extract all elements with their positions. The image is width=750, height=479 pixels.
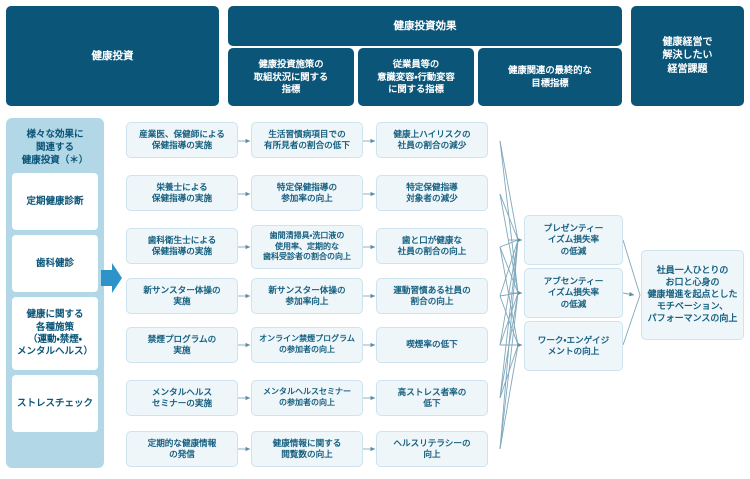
node-col1-3[interactable]: 新サンスター体操の実施 — [126, 278, 238, 314]
sidebar-item-dental-checkup[interactable]: 歯科健診 — [12, 235, 98, 292]
header-health-investment: 健康投資 — [6, 6, 219, 106]
header-indicator-awareness-behavior-change-label: 従業員等の意識変容・行動変容に関する指標 — [377, 58, 455, 96]
health-management-strategy-map: 健康投資 健康投資効果 健康投資施策の取組状況に関する指標 従業員等の意識変容・… — [0, 0, 750, 479]
node-col1-0[interactable]: 産業医、保健師による保健指導の実施 — [126, 122, 238, 158]
sidebar-item-health-measures[interactable]: 健康に関する各種施策（運動・禁煙・メンタルヘルス） — [12, 297, 98, 370]
node-col3-5[interactable]: 高ストレス者率の低下 — [376, 380, 488, 416]
header-indicator-initiative-status-label: 健康投資施策の取組状況に関する指標 — [254, 58, 328, 96]
node-col2-0[interactable]: 生活習慣病項目での有所見者の割合の低下 — [251, 122, 363, 158]
node-col2-6[interactable]: 健康情報に関する閲覧数の向上 — [251, 431, 363, 467]
sidebar-right-arrow-icon — [101, 262, 123, 294]
node-col2-4[interactable]: オンライン禁煙プログラムの参加者の向上 — [251, 327, 363, 363]
header-management-issue: 健康経営で解決したい経営課題 — [631, 6, 744, 106]
header-indicator-final-health-goal-label: 健康関連の最終的な目標指標 — [508, 64, 592, 89]
node-col3-4[interactable]: 喫煙率の低下 — [376, 327, 488, 363]
header-indicator-final-health-goal: 健康関連の最終的な目標指標 — [478, 48, 622, 106]
header-management-issue-label: 健康経営で解決したい経営課題 — [663, 36, 713, 77]
node-col3-6[interactable]: ヘルスリテラシーの向上 — [376, 431, 488, 467]
node-col3-2[interactable]: 歯と口が健康な社員の割合の向上 — [376, 228, 488, 264]
node-col2-5[interactable]: メンタルヘルスセミナーの参加者の向上 — [251, 380, 363, 416]
sidebar-title: 様々な効果に関連する健康投資（＊） — [12, 124, 98, 173]
node-final-outcome[interactable]: 社員一人ひとりのお口と心身の健康増進を起点としたモチベーション、パフォーマンスの… — [641, 250, 744, 340]
node-col4-presenteeism[interactable]: プレゼンティーイズム損失率の低減 — [524, 215, 623, 265]
sidebar-item-stress-check[interactable]: ストレスチェック — [12, 375, 98, 432]
node-col1-2[interactable]: 歯科衛生士による保健指導の実施 — [126, 228, 238, 264]
node-col3-1[interactable]: 特定保健指導対象者の減少 — [376, 175, 488, 211]
header-health-investment-label: 健康投資 — [92, 49, 134, 63]
node-col3-3[interactable]: 運動習慣ある社員の割合の向上 — [376, 278, 488, 314]
node-col4-work-engagement[interactable]: ワーク・エンゲイジメントの向上 — [524, 321, 623, 371]
node-col1-5[interactable]: メンタルヘルスセミナーの実施 — [126, 380, 238, 416]
node-col3-0[interactable]: 健康上ハイリスクの社員の割合の減少 — [376, 122, 488, 158]
node-col2-1[interactable]: 特定保健指導の参加率の向上 — [251, 175, 363, 211]
node-col1-1[interactable]: 栄養士による保健指導の実施 — [126, 175, 238, 211]
header-indicator-initiative-status: 健康投資施策の取組状況に関する指標 — [228, 48, 354, 106]
sidebar-health-investments: 様々な効果に関連する健康投資（＊） 定期健康診断 歯科健診 健康に関する各種施策… — [6, 118, 104, 468]
sidebar-item-periodic-health-checkup[interactable]: 定期健康診断 — [12, 173, 98, 230]
node-col1-6[interactable]: 定期的な健康情報の発信 — [126, 431, 238, 467]
node-col2-3[interactable]: 新サンスター体操の参加率向上 — [251, 278, 363, 314]
node-col4-absenteeism[interactable]: アブセンティーイズム損失率の低減 — [524, 268, 623, 318]
node-col1-4[interactable]: 禁煙プログラムの実施 — [126, 327, 238, 363]
header-health-investment-effect: 健康投資効果 — [228, 6, 622, 46]
header-indicator-awareness-behavior-change: 従業員等の意識変容・行動変容に関する指標 — [358, 48, 474, 106]
node-col2-2[interactable]: 歯間清掃具・洗口液の使用率、定期的な歯科受診者の割合の向上 — [251, 225, 363, 269]
header-health-investment-effect-label: 健康投資効果 — [394, 19, 457, 33]
